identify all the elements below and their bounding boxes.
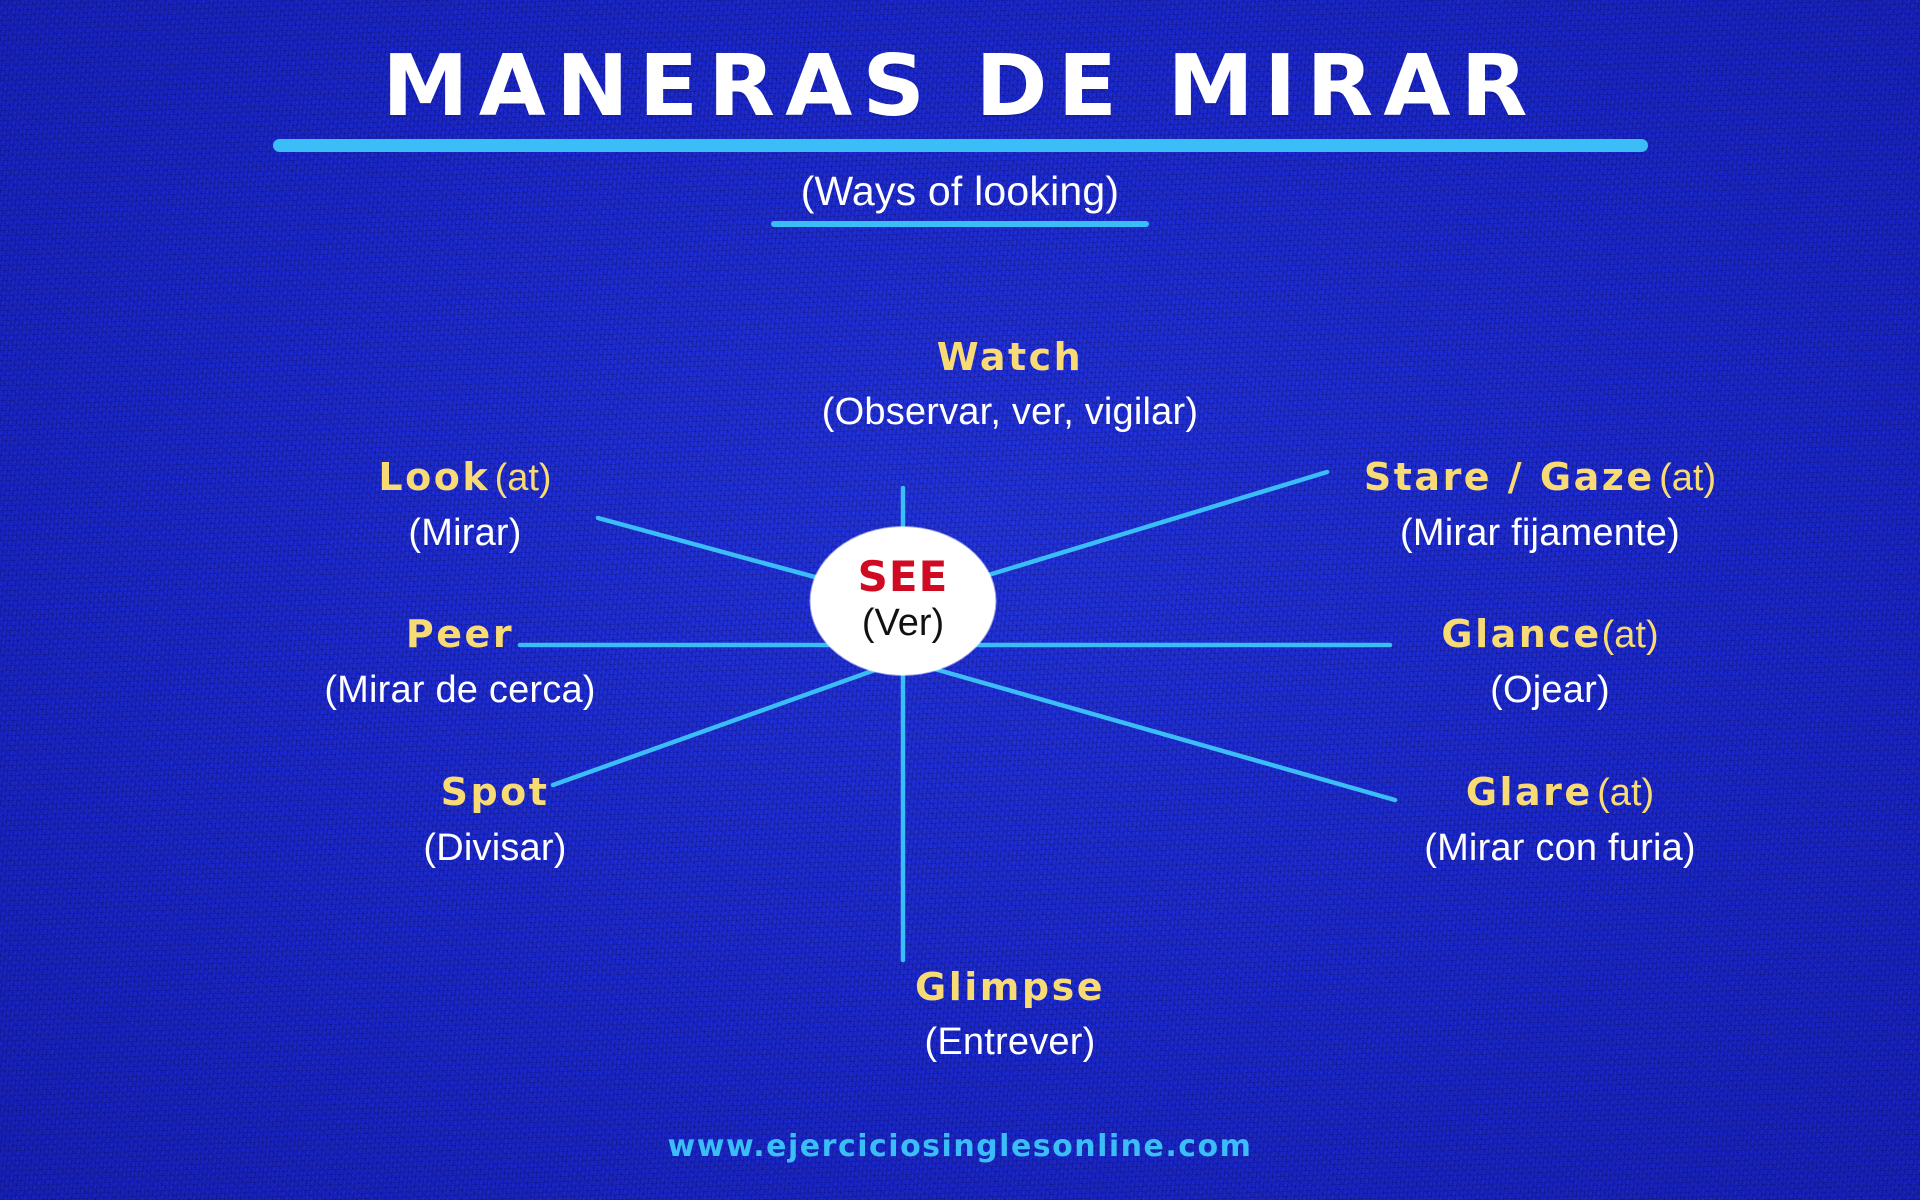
node-glance-preposition: (at): [1602, 614, 1659, 656]
node-glance-english: Glance: [1441, 612, 1601, 656]
spoke-line-glare: [903, 660, 1395, 800]
node-look: Look (at) (Mirar): [300, 455, 630, 555]
node-glare: Glare (at) (Mirar con furia): [1390, 770, 1730, 870]
node-look-spanish: (Mirar): [300, 512, 630, 555]
node-look-english: Look: [378, 455, 490, 499]
node-stare-gaze: Stare / Gaze (at) (Mirar fijamente): [1305, 455, 1775, 555]
node-glare-preposition: (at): [1597, 772, 1654, 814]
node-spot-english: Spot: [441, 770, 550, 814]
node-spot: Spot (Divisar): [330, 770, 660, 870]
website-url[interactable]: www.ejerciciosinglesonline.com: [668, 1129, 1253, 1164]
node-glimpse-english: Glimpse: [810, 965, 1210, 1009]
node-peer: Peer (Mirar de cerca): [280, 612, 640, 712]
node-stare-gaze-spanish: (Mirar fijamente): [1305, 512, 1775, 555]
node-look-preposition: (at): [495, 457, 552, 499]
node-stare-gaze-preposition: (at): [1659, 457, 1716, 499]
node-glance: Glance(at) (Ojear): [1385, 612, 1715, 712]
page-title: MANERAS DE MIRAR: [0, 0, 1920, 131]
node-spot-spanish: (Divisar): [330, 827, 660, 870]
header: MANERAS DE MIRAR (Ways of looking): [0, 0, 1920, 227]
node-watch-english: Watch: [800, 335, 1220, 379]
center-hub-see: SEE (Ver): [811, 527, 996, 675]
node-peer-spanish: (Mirar de cerca): [280, 669, 640, 712]
footer: www.ejerciciosinglesonline.com: [0, 1129, 1920, 1164]
node-glimpse-spanish: (Entrever): [810, 1021, 1210, 1064]
node-glare-spanish: (Mirar con furia): [1390, 827, 1730, 870]
node-glance-spanish: (Ojear): [1385, 669, 1715, 712]
node-stare-gaze-english: Stare / Gaze: [1364, 455, 1655, 499]
node-watch: Watch (Observar, ver, vigilar): [800, 335, 1220, 434]
node-watch-spanish: (Observar, ver, vigilar): [800, 391, 1220, 434]
page-subtitle: (Ways of looking): [0, 152, 1920, 215]
title-underline-rule: [273, 139, 1648, 152]
subtitle-underline-rule: [771, 221, 1149, 227]
hub-english-term: SEE: [858, 556, 949, 598]
node-glimpse: Glimpse (Entrever): [810, 965, 1210, 1064]
hub-spanish-translation: (Ver): [862, 602, 944, 646]
node-glare-english: Glare: [1466, 770, 1593, 814]
node-peer-english: Peer: [406, 612, 514, 656]
